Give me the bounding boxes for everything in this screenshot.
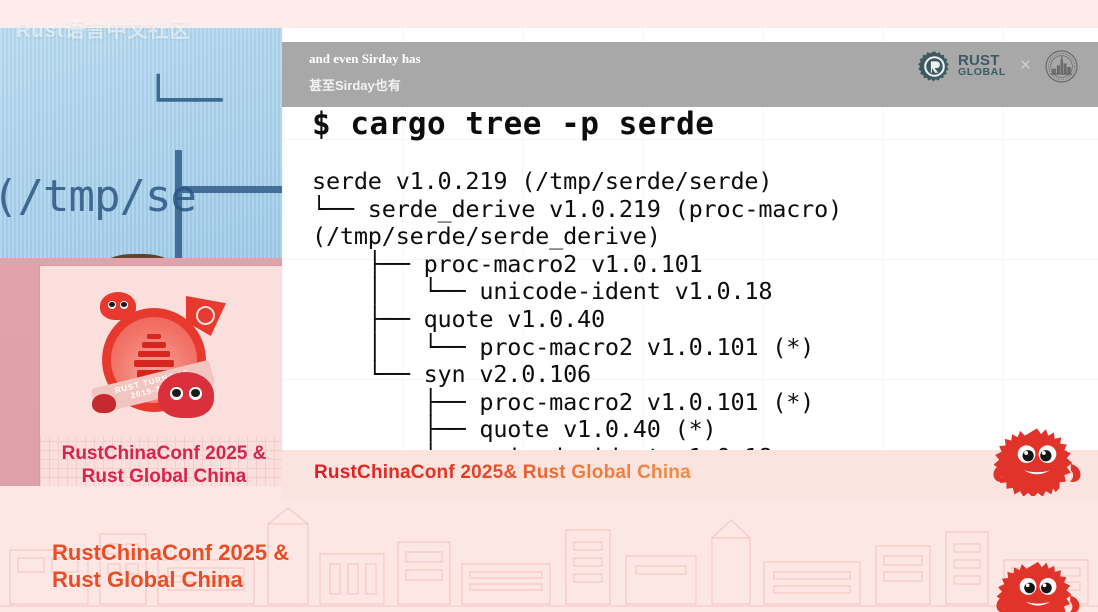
podium-title: RustChinaConf 2025 & Rust Global China (40, 442, 282, 486)
bottom-left-title-line-2: Rust Global China (52, 567, 289, 594)
projector-line-1: └── ser (145, 75, 282, 126)
logo-crab-main-icon (158, 372, 214, 418)
channel-watermark: Rust语言中文社区 (16, 14, 190, 43)
logo-crab-small-icon (92, 394, 116, 413)
slide-logo-group: RUST GLOBAL × (918, 42, 1078, 90)
subtitle-chinese: 甚至Sirday也有 (309, 75, 401, 94)
rust-gear-r-icon (918, 50, 951, 83)
podium-poster: RUST TURNS 10 2015-2025 RustChinaConf 20… (40, 266, 282, 486)
podium-title-line-1: RustChinaConf 2025 & (40, 442, 282, 465)
ferris-crab-watermark-icon (992, 554, 1084, 612)
presentation-slide: $ cargo tree -p serde serde v1.0.219 (/t… (282, 28, 1098, 500)
subtitle-english: and even Sirday has (309, 51, 421, 67)
logo-separator-x: × (1020, 55, 1031, 77)
conference-logo: RUST TURNS 10 2015-2025 (88, 290, 228, 418)
bottom-left-title-line-1: RustChinaConf 2025 & (52, 540, 289, 567)
screenshot-stage: └── ser (/tmp/se Foundation (0, 0, 1098, 612)
bottom-left-event-title: RustChinaConf 2025 & Rust Global China (52, 540, 289, 594)
podium-title-line-2: Rust Global China (40, 465, 282, 486)
rust-global-logo: RUST GLOBAL (918, 50, 1006, 83)
terminal-dependency-tree: serde v1.0.219 (/tmp/serde/serde) └── se… (312, 168, 842, 472)
slide-bottom-banner: RustChinaConf 2025& Rust Global China (282, 450, 1098, 500)
rust-global-line-2: GLOBAL (958, 68, 1006, 78)
terminal-command: $ cargo tree -p serde (312, 106, 714, 142)
slide-banner-text: RustChinaConf 2025& Rust Global China (314, 462, 691, 484)
podium-panel: RUST TURNS 10 2015-2025 RustChinaConf 20… (0, 258, 282, 486)
rust-global-wordmark: RUST GLOBAL (958, 54, 1006, 78)
city-skyline-seal-icon (1045, 50, 1078, 83)
ferris-crab-icon (988, 422, 1086, 496)
